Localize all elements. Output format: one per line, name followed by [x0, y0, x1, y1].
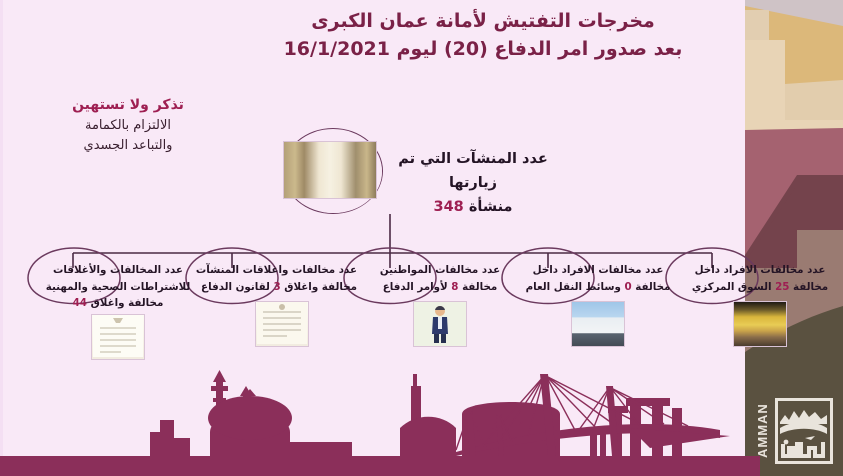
leaf-citizens-value: 8	[451, 281, 458, 293]
leaf-souq-line-2-before: السوق المركزي	[692, 281, 772, 293]
leaf-health-line-2: للاشتراطات الصحية والمهنية	[33, 279, 203, 296]
slogan-line-2: الالتزام بالكمامة	[33, 116, 223, 136]
leaf-health-line-1: عدد المخالفات والأغلاقات	[33, 262, 203, 279]
leaf-souq-line-1: عدد مخالفات الافراد داخل	[685, 262, 835, 279]
leaf-transport-line-1: عدد مخالفات الافراد داخل	[523, 262, 673, 279]
slogan-line-3: والتباعد الجسدي	[33, 136, 223, 156]
leaf-citizens-line-1: عدد مخالفات المواطنين	[365, 262, 515, 279]
violation-ticket-icon	[93, 315, 143, 357]
leaf-facilities-line-1: عدد مخالفات واغلاقات المنشآت	[207, 262, 357, 279]
leaf-souq-image	[733, 301, 787, 347]
leaf-facilities-value: 3	[273, 281, 280, 293]
root-node: عدد المنشآت التي تم زيارتها منشأة 348	[283, 128, 558, 214]
leaf-health-value: 44	[73, 297, 87, 309]
leaf-transport-image	[571, 301, 625, 347]
amman-logo: AMMAN	[753, 396, 835, 466]
root-node-text-before: عدد المنشآت التي تم زيارتها	[398, 151, 548, 191]
root-node-text: عدد المنشآت التي تم زيارتها منشأة 348	[388, 148, 558, 220]
leaf-citizens-image	[413, 301, 467, 347]
leaf-node-souq: عدد مخالفات الافراد داخل مخالفة 25 السوق…	[685, 262, 835, 347]
leaf-node-citizens: عدد مخالفات المواطنين مخالفة 8 لأوامر ال…	[365, 262, 515, 347]
leaf-transport-line-2-after: مخالفة	[635, 281, 670, 293]
leaf-facilities-line-2-before: لقانون الدفاع	[201, 281, 270, 293]
abdoun-bridge-silhouette	[400, 356, 750, 476]
official-document-icon	[257, 302, 307, 344]
root-node-image	[283, 141, 377, 199]
root-node-text-after: منشأة	[469, 199, 513, 215]
amman-logo-emblem-icon	[775, 398, 833, 464]
leaf-facilities-line-2-after: مخالفة واغلاق	[284, 281, 357, 293]
inspector-person-icon	[415, 302, 465, 344]
leaf-transport-line-2-before: وسائط النقل العام	[526, 281, 621, 293]
leaf-transport-value: 0	[624, 281, 631, 293]
leaf-souq-value: 25	[775, 281, 789, 293]
leaf-node-facilities: عدد مخالفات واغلاقات المنشآت مخالفة واغل…	[207, 262, 357, 347]
infographic-page: AMMAN مخرجات التفتيش لأمانة عمان الكبرى …	[0, 0, 843, 476]
page-title: مخرجات التفتيش لأمانة عمان الكبرى بعد صد…	[243, 8, 723, 63]
leaf-health-image	[91, 314, 145, 360]
leaf-citizens-line-2-after: مخالفة	[462, 281, 497, 293]
leaf-souq-line-2-after: مخالفة	[793, 281, 828, 293]
title-line-2: بعد صدور امر الدفاع (20) ليوم 16/1/2021	[243, 36, 723, 64]
leaf-health-line-3-after: مخالفة واغلاق	[91, 297, 164, 309]
leaf-node-health: عدد المخالفات والأغلاقات للاشتراطات الصح…	[33, 262, 203, 360]
slogan-line-1: تذكر ولا تستهين	[33, 95, 223, 116]
root-node-value: 348	[434, 199, 464, 215]
leaf-citizens-line-2-before: لأوامر الدفاع	[383, 281, 448, 293]
leaf-facilities-image	[255, 301, 309, 347]
safety-slogan: تذكر ولا تستهين الالتزام بالكمامة والتبا…	[33, 95, 223, 155]
leaf-node-transport: عدد مخالفات الافراد داخل مخالفة 0 وسائط …	[523, 262, 673, 347]
title-line-1: مخرجات التفتيش لأمانة عمان الكبرى	[243, 8, 723, 36]
